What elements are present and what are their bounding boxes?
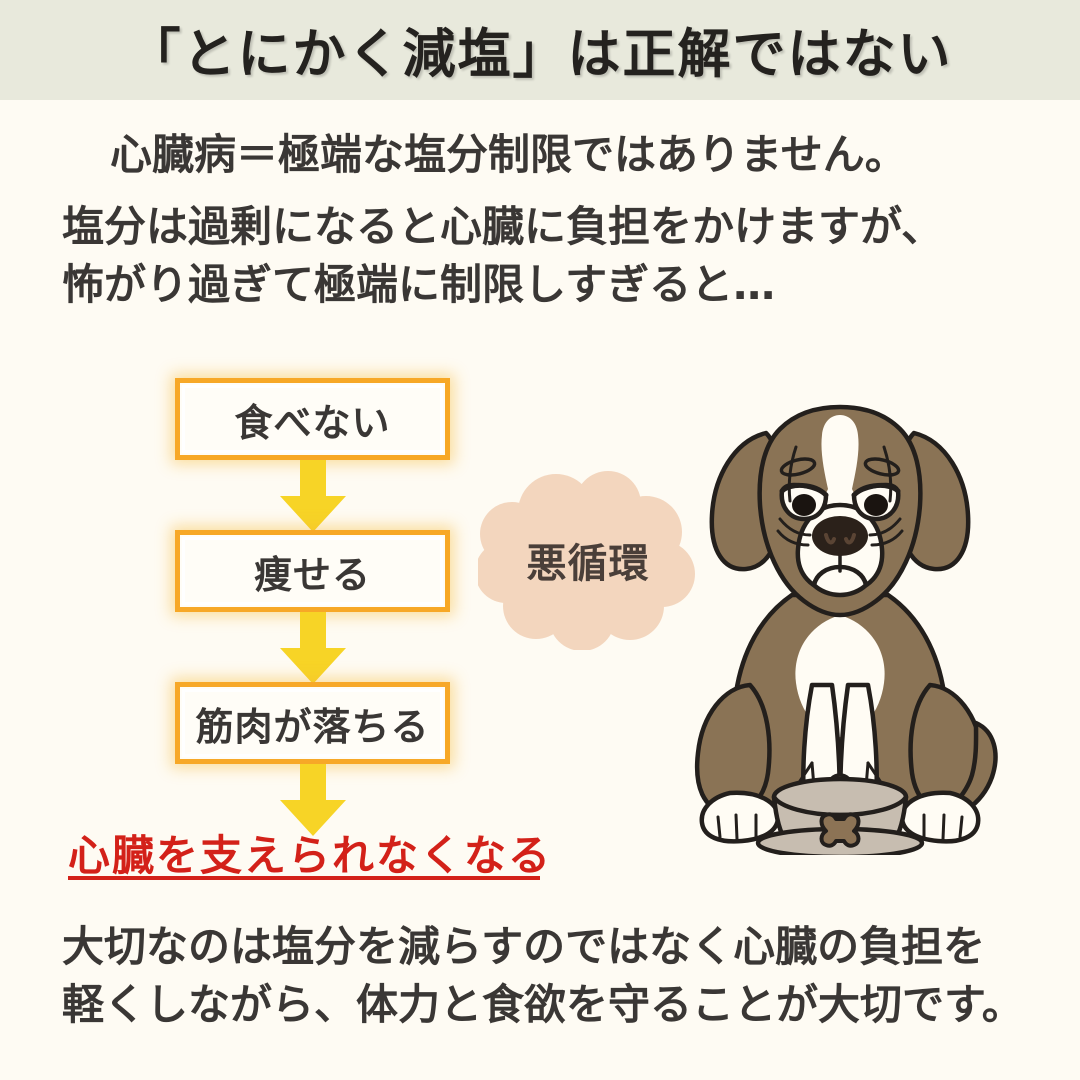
conclusion-underline xyxy=(68,876,540,880)
dog-nose xyxy=(812,516,868,556)
dog-paw-left xyxy=(702,793,778,842)
arrow-head xyxy=(280,496,346,532)
intro-line-1: 心臓病＝極端な塩分制限ではありません。 xyxy=(0,126,1080,184)
bone-icon xyxy=(822,814,859,846)
closing-line-2: 軽くしながら、体力と食欲を守ることが大切です。 xyxy=(62,976,1062,1034)
flow-step-2: 痩せる xyxy=(175,530,450,612)
header-band: 「とにかく減塩」は正解ではない xyxy=(0,0,1080,100)
flow-step-1-label: 食べない xyxy=(234,392,390,447)
flow-step-2-label: 痩せる xyxy=(254,544,371,599)
flow-step-1: 食べない xyxy=(175,378,450,460)
page-title: 「とにかく減塩」は正解ではない xyxy=(128,12,953,88)
infographic-page: 「とにかく減塩」は正解ではない 心臓病＝極端な塩分制限ではありません。 塩分は過… xyxy=(0,0,1080,1080)
intro-line-3: 怖がり過ぎて極端に制限しすぎると… xyxy=(0,256,1080,314)
arrow-head xyxy=(280,648,346,684)
cloud-label: 悪循環 xyxy=(478,470,698,650)
dog-icon xyxy=(680,385,1000,855)
closing-paragraph: 大切なのは塩分を減らすのではなく心臓の負担を 軽くしながら、体力と食欲を守ること… xyxy=(62,918,1062,1034)
dog-paw-right xyxy=(902,793,978,842)
intro-paragraph: 心臓病＝極端な塩分制限ではありません。 塩分は過剰になると心臓に負担をかけますが… xyxy=(0,126,1080,314)
closing-line-1: 大切なのは塩分を減らすのではなく心臓の負担を xyxy=(62,918,1062,976)
conclusion-text: 心臓を支えられなくなる xyxy=(68,822,552,883)
intro-line-2: 塩分は過剰になると心臓に負担をかけますが、 xyxy=(0,198,1080,256)
flow-step-3: 筋肉が落ちる xyxy=(175,682,450,764)
flow-arrow-1-icon xyxy=(175,460,450,530)
vicious-cycle-flow: 食べない 痩せる 筋肉が落ちる xyxy=(175,378,450,834)
vicious-cycle-cloud: 悪循環 xyxy=(478,470,698,650)
flow-step-3-label: 筋肉が落ちる xyxy=(195,696,429,751)
flow-arrow-2-icon xyxy=(175,612,450,682)
sad-dog-illustration xyxy=(680,385,1000,855)
